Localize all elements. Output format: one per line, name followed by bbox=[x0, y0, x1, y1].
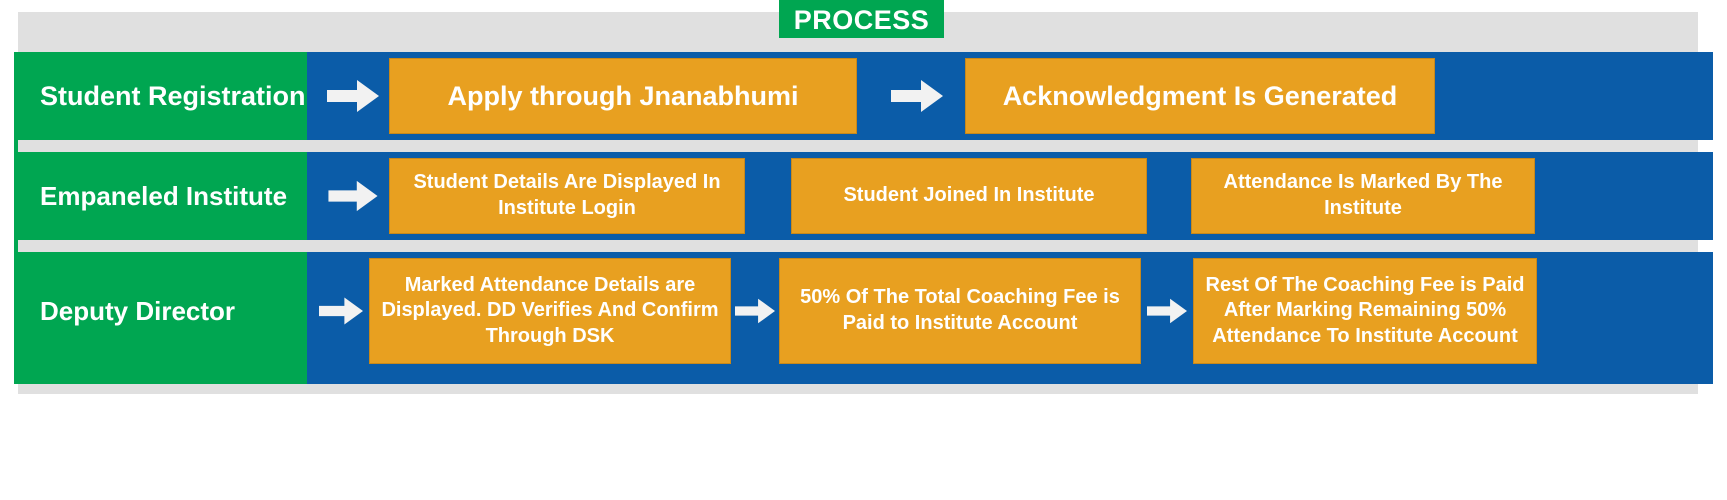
step-box-rest-of-coaching-fee[interactable]: Rest Of The Coaching Fee is Paid After M… bbox=[1193, 258, 1537, 364]
arrow-right-icon bbox=[317, 179, 389, 213]
arrow-right-icon bbox=[869, 78, 965, 114]
row-label-empaneled-institute: Empaneled Institute bbox=[14, 152, 307, 240]
step-box-student-joined-in-institute[interactable]: Student Joined In Institute bbox=[791, 158, 1147, 234]
step-box-attendance-is-marked[interactable]: Attendance Is Marked By The Institute bbox=[1191, 158, 1535, 234]
step-box-50-percent-fee-paid[interactable]: 50% Of The Total Coaching Fee is Paid to… bbox=[779, 258, 1141, 364]
arrow-right-icon bbox=[731, 296, 779, 326]
row-3-body: Marked Attendance Details are Displayed.… bbox=[307, 252, 1713, 370]
row-label-deputy-director: Deputy Director bbox=[14, 252, 307, 370]
process-badge: PROCESS bbox=[779, 0, 944, 41]
row-2-body: Student Details Are Displayed In Institu… bbox=[307, 152, 1713, 240]
process-row-empaneled-institute: Empaneled Institute Student Details Are … bbox=[14, 152, 1713, 240]
arrow-right-icon bbox=[313, 295, 369, 327]
bottom-green-bar bbox=[14, 370, 307, 384]
step-box-marked-attendance-details[interactable]: Marked Attendance Details are Displayed.… bbox=[369, 258, 731, 364]
process-row-student-registration: Student Registration Apply through Jnana… bbox=[14, 52, 1713, 140]
step-box-acknowledgment-is-generated[interactable]: Acknowledgment Is Generated bbox=[965, 58, 1435, 134]
process-row-deputy-director: Deputy Director Marked Attendance Detail… bbox=[14, 252, 1713, 370]
process-flow-diagram: PROCESS Student Registration Apply throu… bbox=[0, 0, 1727, 500]
arrow-right-icon bbox=[1141, 296, 1193, 326]
step-box-apply-through-jnanabhumi[interactable]: Apply through Jnanabhumi bbox=[389, 58, 857, 134]
step-box-student-details-displayed[interactable]: Student Details Are Displayed In Institu… bbox=[389, 158, 745, 234]
row-1-body: Apply through Jnanabhumi Acknowledgment … bbox=[307, 52, 1713, 140]
row-label-student-registration: Student Registration bbox=[14, 52, 307, 140]
arrow-right-icon bbox=[317, 78, 389, 114]
